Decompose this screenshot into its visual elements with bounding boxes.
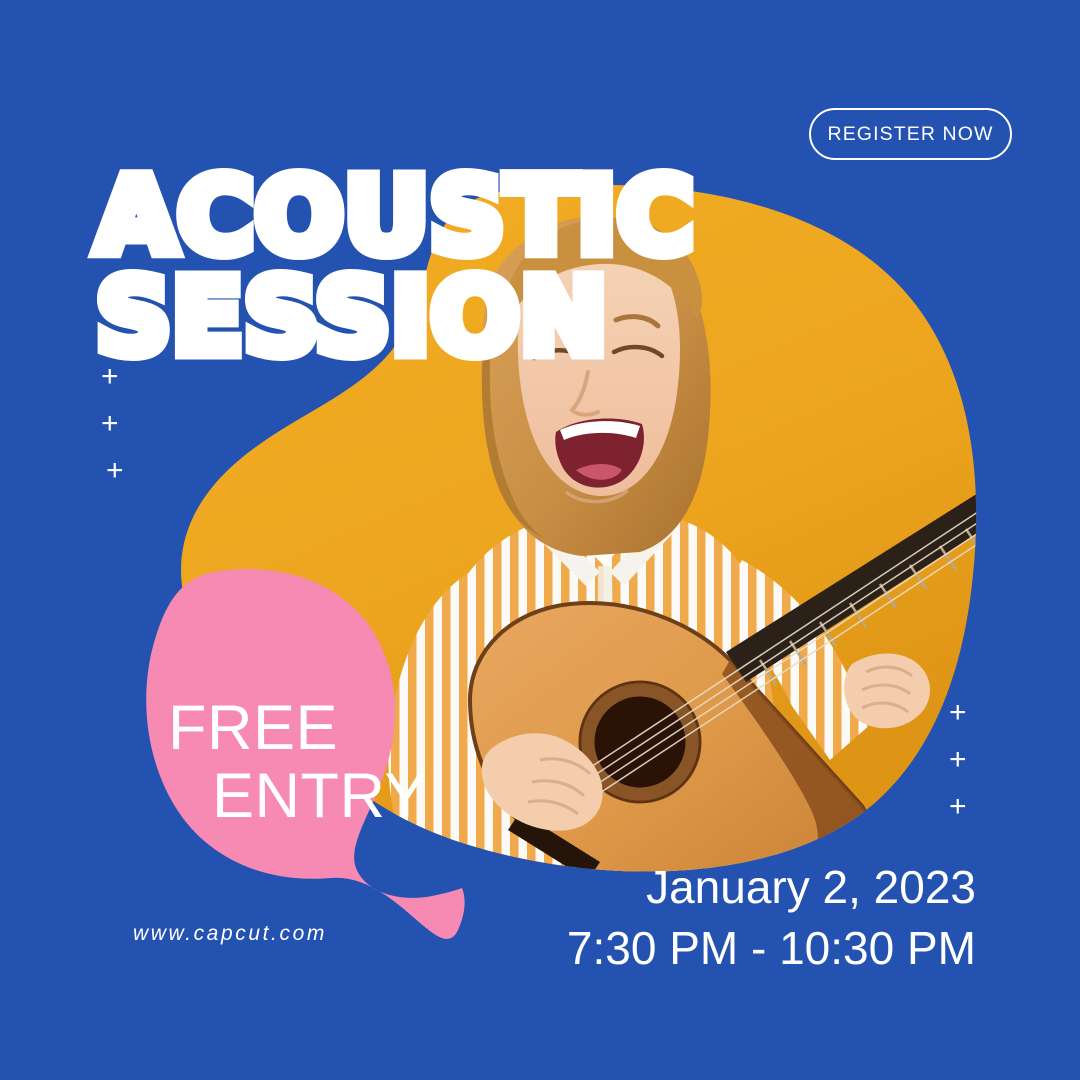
plus-icon-left-1: + xyxy=(101,362,119,392)
title-line-1: ACOUSTIC xyxy=(96,166,695,267)
title-line-2: SESSION xyxy=(96,267,695,368)
register-now-button[interactable]: REGISTER NOW xyxy=(809,108,1012,160)
event-datetime: January 2, 2023 7:30 PM - 10:30 PM xyxy=(567,857,976,978)
free-entry-line-1: FREE xyxy=(168,694,427,762)
event-time: 7:30 PM - 10:30 PM xyxy=(567,918,976,979)
plus-icon-left-3: + xyxy=(106,456,124,486)
page-title: ACOUSTIC SESSION xyxy=(96,166,695,368)
poster-canvas: ACOUSTIC SESSION REGISTER NOW FREE ENTRY… xyxy=(0,0,1080,1080)
plus-icon-right-1: + xyxy=(949,698,967,728)
free-entry-badge: FREE ENTRY xyxy=(168,694,427,830)
plus-icon-right-2: + xyxy=(949,745,967,775)
website-url: www.capcut.com xyxy=(133,922,327,946)
event-date: January 2, 2023 xyxy=(567,857,976,918)
free-entry-line-2: ENTRY xyxy=(168,762,427,830)
plus-icon-right-3: + xyxy=(949,792,967,822)
plus-icon-left-2: + xyxy=(101,409,119,439)
